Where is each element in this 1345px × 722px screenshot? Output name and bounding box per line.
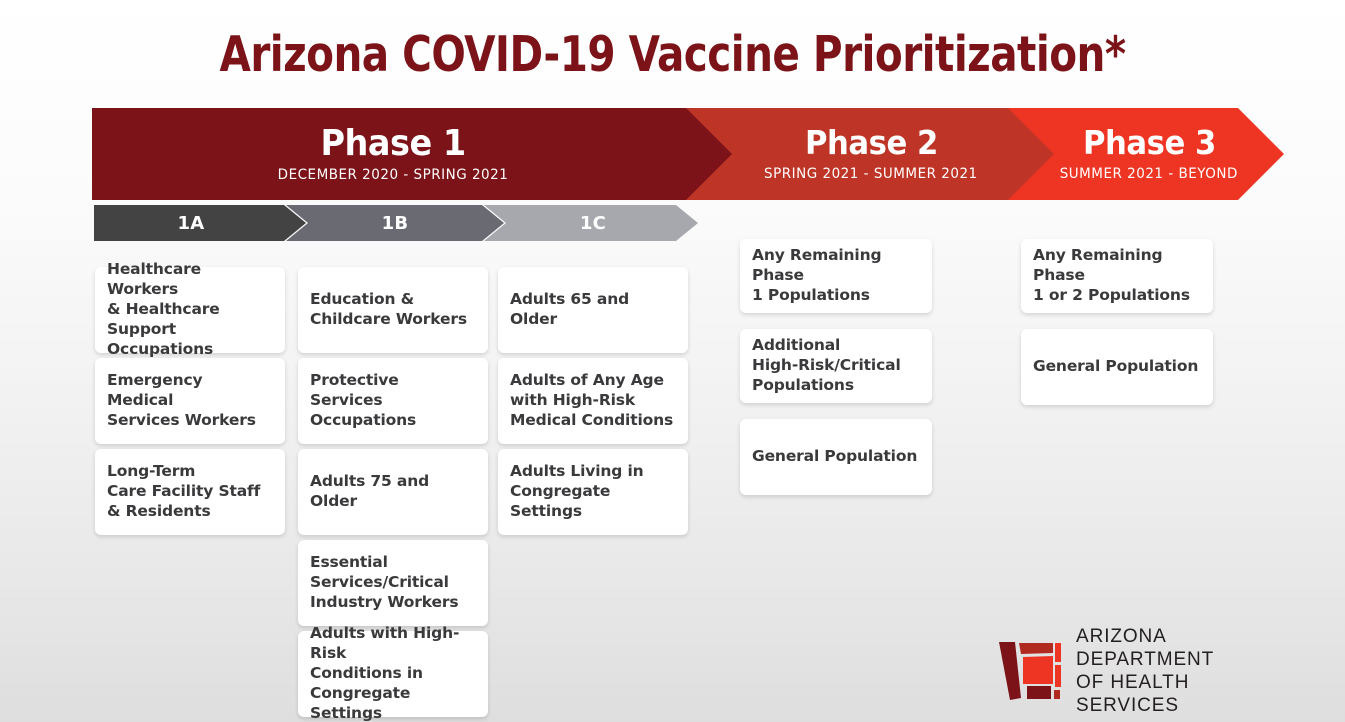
population-card: Adults of Any Age with High-Risk Medical…	[498, 358, 688, 444]
adhs-logo: ARIZONA DEPARTMENT OF HEALTH SERVICES	[997, 640, 1267, 702]
population-card: Education & Childcare Workers	[298, 267, 488, 353]
population-column-1a: Healthcare Workers & Healthcare Support …	[95, 267, 285, 538]
phase-2-dates: SPRING 2021 - SUMMER 2021	[764, 166, 978, 182]
population-card: Emergency Medical Services Workers	[95, 358, 285, 444]
population-column-1b: Education & Childcare Workers Protective…	[298, 267, 488, 720]
phase-1-arrow: Phase 1 DECEMBER 2020 - SPRING 2021	[92, 108, 734, 200]
population-card: Adults Living in Congregate Settings	[498, 449, 688, 535]
subphase-chevron-1c: 1C	[484, 205, 698, 241]
population-card: General Population	[1021, 329, 1213, 405]
phase-1-dates: DECEMBER 2020 - SPRING 2021	[278, 167, 509, 183]
subphase-chevron-1a: 1A	[94, 205, 306, 241]
phase-3-dates: SUMMER 2021 - BEYOND	[1060, 166, 1238, 182]
phase-3-name: Phase 3	[1083, 126, 1216, 161]
population-column-phase2: Any Remaining Phase 1 Populations Additi…	[740, 239, 932, 511]
page-title: Arizona COVID-19 Vaccine Prioritization*	[54, 26, 1291, 83]
population-card: Adults 75 and Older	[298, 449, 488, 535]
population-column-1c: Adults 65 and Older Adults of Any Age wi…	[498, 267, 688, 538]
adhs-logo-text: ARIZONA DEPARTMENT OF HEALTH SERVICES	[1076, 625, 1267, 718]
population-card: Adults with High-Risk Conditions in Cong…	[298, 631, 488, 717]
subphase-row: 1A 1B 1C	[94, 205, 698, 241]
population-card: Additional High-Risk/Critical Population…	[740, 329, 932, 403]
subphase-chevron-1b: 1B	[286, 205, 504, 241]
population-card: Any Remaining Phase 1 Populations	[740, 239, 932, 313]
population-card: Essential Services/Critical Industry Wor…	[298, 540, 488, 626]
population-card: Any Remaining Phase 1 or 2 Populations	[1021, 239, 1213, 313]
population-card: General Population	[740, 419, 932, 495]
phase-2-arrow: Phase 2 SPRING 2021 - SUMMER 2021	[686, 108, 1056, 200]
phase-1-name: Phase 1	[320, 125, 465, 163]
phase-banner: Phase 1 DECEMBER 2020 - SPRING 2021 Phas…	[92, 108, 1284, 200]
population-card: Protective Services Occupations	[298, 358, 488, 444]
phase-2-name: Phase 2	[805, 126, 938, 161]
population-card: Adults 65 and Older	[498, 267, 688, 353]
population-card: Healthcare Workers & Healthcare Support …	[95, 267, 285, 353]
population-card: Long-Term Care Facility Staff & Resident…	[95, 449, 285, 535]
population-column-phase3: Any Remaining Phase 1 or 2 Populations G…	[1021, 239, 1213, 421]
adhs-logo-mark-icon	[997, 640, 1063, 702]
